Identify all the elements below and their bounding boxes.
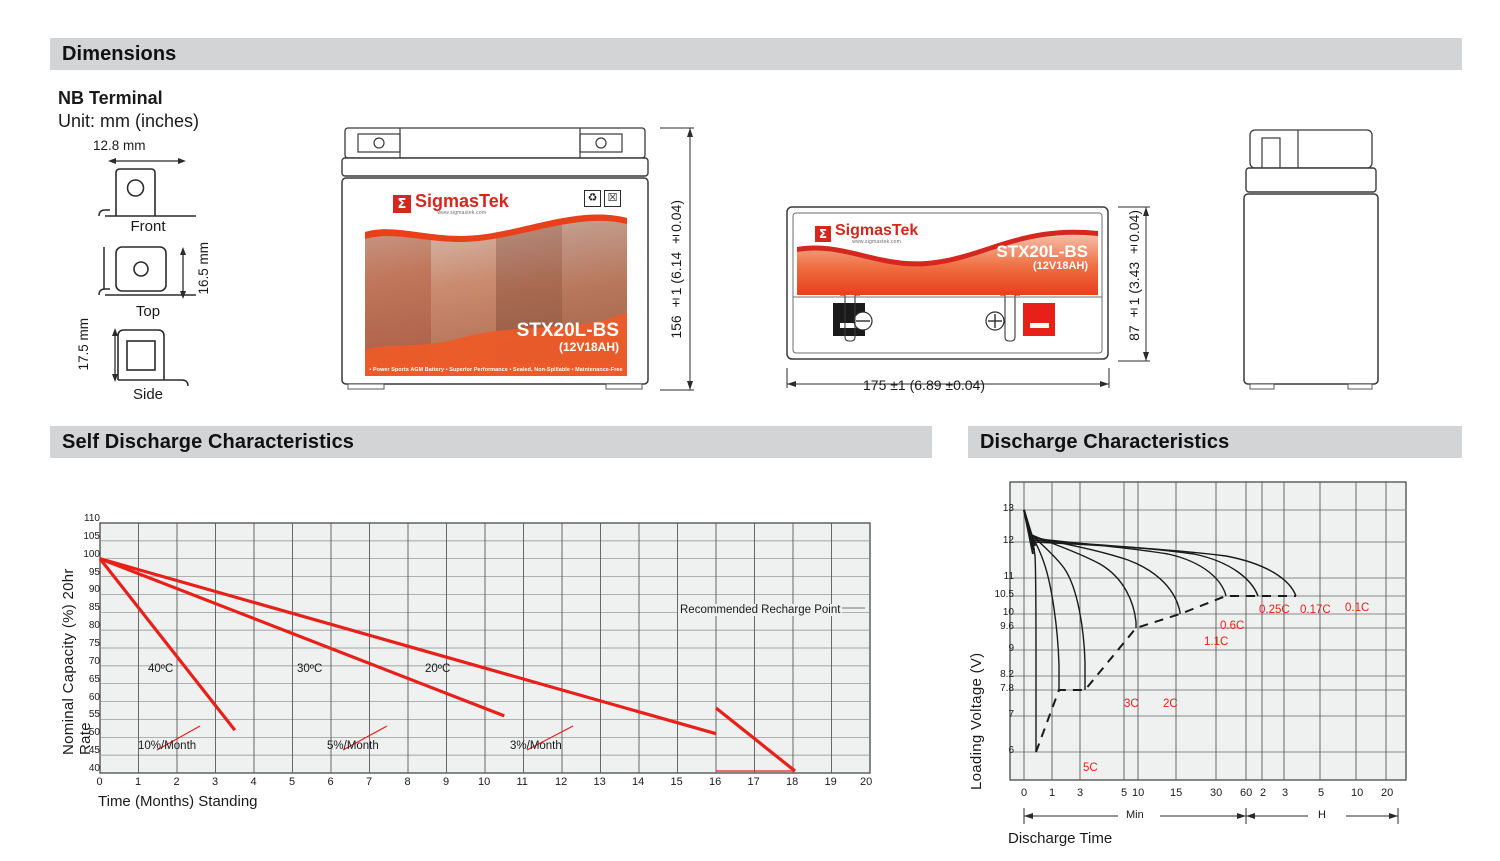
discharge-x-ticks: 0 1 3 5 10 15 30 60 2 3 5 10 20	[1008, 787, 1408, 803]
xtick-min-10: 10	[1132, 787, 1144, 799]
model-number-front: STX20L-BS	[517, 321, 619, 341]
compliance-icons-front: ♻ ☒	[584, 190, 621, 207]
battery-side-view: Σ SigmasTek www.sigmastek.com STX20L-BS …	[785, 205, 1110, 365]
section-title-self-discharge: Self Discharge Characteristics	[62, 431, 354, 454]
sigma-logo-icon-side: Σ	[815, 226, 831, 242]
battery-side-height-label: 87 ±1 (3.43 ±0.04)	[1126, 210, 1142, 341]
ytick-90: 90	[89, 584, 100, 595]
ytick-95: 95	[89, 567, 100, 578]
battery-side-label-art: Σ SigmasTek www.sigmastek.com STX20L-BS …	[797, 217, 1098, 295]
xtick-min-60: 60	[1240, 787, 1252, 799]
ytick-50: 50	[89, 727, 100, 738]
discharge-plot	[1008, 480, 1408, 785]
xtick-10: 10	[478, 776, 490, 788]
battery-front-view: Σ SigmasTek www.sigmastek.com ♻ ☒ STX20L…	[340, 126, 650, 396]
section-header-self-discharge: Self Discharge Characteristics	[50, 426, 932, 458]
xtick-min-15: 15	[1170, 787, 1182, 799]
ytick-45: 45	[89, 745, 100, 756]
self-discharge-chart	[95, 518, 885, 818]
xtick-min-30: 30	[1210, 787, 1222, 799]
xtick-20: 20	[860, 776, 872, 788]
section-header-discharge: Discharge Characteristics	[968, 426, 1462, 458]
curve-label-0-25c: 0.25C	[1259, 604, 1290, 616]
terminal-front-label: Front	[118, 218, 178, 235]
battery-end-view	[1232, 126, 1392, 396]
xtick-h-10: 10	[1351, 787, 1363, 799]
annot-recommended-recharge-point: Recommended Recharge Point	[678, 604, 842, 616]
terminal-height-arrow	[110, 328, 120, 382]
ytick-7-0: 7	[1008, 709, 1014, 720]
xtick-h-2: 2	[1260, 787, 1266, 799]
section-title-dimensions: Dimensions	[62, 43, 176, 66]
xtick-7: 7	[366, 776, 372, 788]
terminal-depth-label: 16.5 mm	[196, 242, 211, 295]
model-capacity-front: (12V18AH)	[517, 341, 619, 354]
nb-terminal-title: NB Terminal	[58, 88, 163, 109]
ytick-80: 80	[89, 620, 100, 631]
annot-20c: 20ºC	[425, 663, 450, 675]
curve-label-3c: 3C	[1124, 698, 1139, 710]
terminal-top-label: Top	[118, 303, 178, 320]
xtick-2: 2	[174, 776, 180, 788]
terminal-height-label: 17.5 mm	[76, 318, 91, 371]
xtick-1: 1	[135, 776, 141, 788]
terminal-width-arrow	[108, 156, 186, 166]
brand-lockup-side: Σ SigmasTek www.sigmastek.com	[815, 223, 918, 245]
terminal-width-label: 12.8 mm	[93, 138, 146, 153]
xtick-h-20: 20	[1381, 787, 1393, 799]
discharge-chart	[1008, 480, 1408, 785]
battery-length-label: 175 ±1 (6.89 ±0.04)	[863, 377, 985, 393]
annot-3-pct-month: 3%/Month	[510, 740, 562, 752]
xtick-min-0: 0	[1021, 787, 1027, 799]
xtick-min-1: 1	[1049, 787, 1055, 799]
ytick-110: 110	[84, 513, 100, 524]
self-discharge-x-axis-title: Time (Months) Standing	[98, 793, 258, 810]
xtick-6: 6	[328, 776, 334, 788]
brand-lockup-front: Σ SigmasTek www.sigmastek.com	[393, 192, 509, 216]
xtick-19: 19	[825, 776, 837, 788]
section-title-discharge: Discharge Characteristics	[980, 431, 1229, 454]
xtick-5: 5	[289, 776, 295, 788]
battery-front-label-art: Σ SigmasTek www.sigmastek.com ♻ ☒ STX20L…	[365, 184, 627, 376]
axis-unit-hour-label: H	[1318, 809, 1326, 821]
terminal-front-view	[96, 166, 206, 222]
curve-label-0-17c: 0.17C	[1300, 604, 1331, 616]
brand-url-side: www.sigmastek.com	[835, 239, 918, 245]
axis-unit-min-label: Min	[1126, 809, 1144, 821]
sigma-logo-icon: Σ	[393, 195, 411, 213]
xtick-12: 12	[555, 776, 567, 788]
recycle-icon: ♻	[584, 190, 601, 207]
ytick-100: 100	[83, 549, 100, 560]
ytick-12-0: 12	[1003, 535, 1014, 546]
ytick-85: 85	[89, 602, 100, 613]
ytick-60: 60	[89, 692, 100, 703]
curve-label-1-1c: 1.1C	[1204, 636, 1228, 648]
annot-10-pct-month: 10%/Month	[138, 740, 196, 752]
xtick-4: 4	[251, 776, 257, 788]
ytick-70: 70	[89, 656, 100, 667]
discharge-y-ticks: 13 12 11 10.5 10 9.6 9 8.2 7.8 7 6	[984, 473, 1014, 783]
model-number-side: STX20L-BS	[996, 243, 1088, 261]
ytick-7-8: 7.8	[1000, 683, 1014, 694]
xtick-0: 0	[97, 776, 103, 788]
annot-30c: 30ºC	[297, 663, 322, 675]
xtick-15: 15	[671, 776, 683, 788]
ytick-10-0: 10	[1003, 607, 1014, 618]
self-discharge-plot	[95, 518, 885, 818]
ytick-9-0: 9	[1008, 643, 1014, 654]
xtick-11: 11	[517, 776, 528, 788]
battery-model-side: STX20L-BS (12V18AH)	[996, 243, 1088, 272]
xtick-min-5: 5	[1121, 787, 1127, 799]
discharge-x-axis-title: Discharge Time	[1008, 830, 1112, 847]
ytick-11-0: 11	[1004, 571, 1014, 582]
brand-name-side: SigmasTek	[835, 223, 918, 239]
xtick-min-3: 3	[1077, 787, 1083, 799]
ytick-40: 40	[89, 763, 100, 774]
battery-model-front: STX20L-BS (12V18AH)	[517, 321, 619, 354]
curve-label-0-6c: 0.6C	[1220, 620, 1244, 632]
ytick-9-6: 9.6	[1000, 621, 1014, 632]
brand-name-front: SigmasTek	[415, 192, 509, 210]
discharge-axis-unit-brackets	[1008, 806, 1408, 826]
model-capacity-side: (12V18AH)	[996, 261, 1088, 273]
ytick-8-2: 8.2	[1000, 669, 1014, 680]
xtick-13: 13	[594, 776, 606, 788]
unit-label: Unit: mm (inches)	[58, 111, 199, 132]
ytick-65: 65	[89, 674, 100, 685]
discharge-y-axis-title: Loading Voltage (V)	[968, 610, 985, 790]
feature-bullets-front: • Power Sports AGM Battery • Superior Pe…	[365, 363, 627, 376]
xtick-h-5: 5	[1318, 787, 1324, 799]
terminal-side-label: Side	[118, 386, 178, 403]
curve-label-0-1c: 0.1C	[1345, 602, 1369, 614]
section-header-dimensions: Dimensions	[50, 38, 1462, 70]
self-discharge-y-ticks: 110 105 100 95 90 85 80 75 70 65 60 55 5…	[72, 513, 100, 775]
terminal-depth-arrow	[178, 247, 188, 299]
annot-40c: 40ºC	[148, 663, 173, 675]
ytick-13-0: 13	[1003, 503, 1014, 514]
ytick-75: 75	[89, 638, 100, 649]
xtick-h-3: 3	[1282, 787, 1288, 799]
curve-label-5c: 5C	[1083, 762, 1098, 774]
ytick-55: 55	[89, 709, 100, 720]
ytick-105: 105	[83, 531, 100, 542]
xtick-9: 9	[443, 776, 449, 788]
curve-label-2c: 2C	[1163, 698, 1178, 710]
xtick-3: 3	[212, 776, 218, 788]
xtick-18: 18	[786, 776, 798, 788]
self-discharge-x-ticks: 0 1 2 3 4 5 6 7 8 9 10 11 12 13 14 15 16…	[95, 776, 885, 792]
xtick-16: 16	[709, 776, 721, 788]
wheelie-bin-icon: ☒	[604, 190, 621, 207]
xtick-8: 8	[405, 776, 411, 788]
ytick-10-5: 10.5	[995, 589, 1014, 600]
xtick-14: 14	[632, 776, 644, 788]
annot-5-pct-month: 5%/Month	[327, 740, 379, 752]
xtick-17: 17	[748, 776, 760, 788]
battery-front-height-label: 156 ±1 (6.14 ±0.04)	[668, 200, 684, 339]
ytick-6-0: 6	[1008, 745, 1014, 756]
